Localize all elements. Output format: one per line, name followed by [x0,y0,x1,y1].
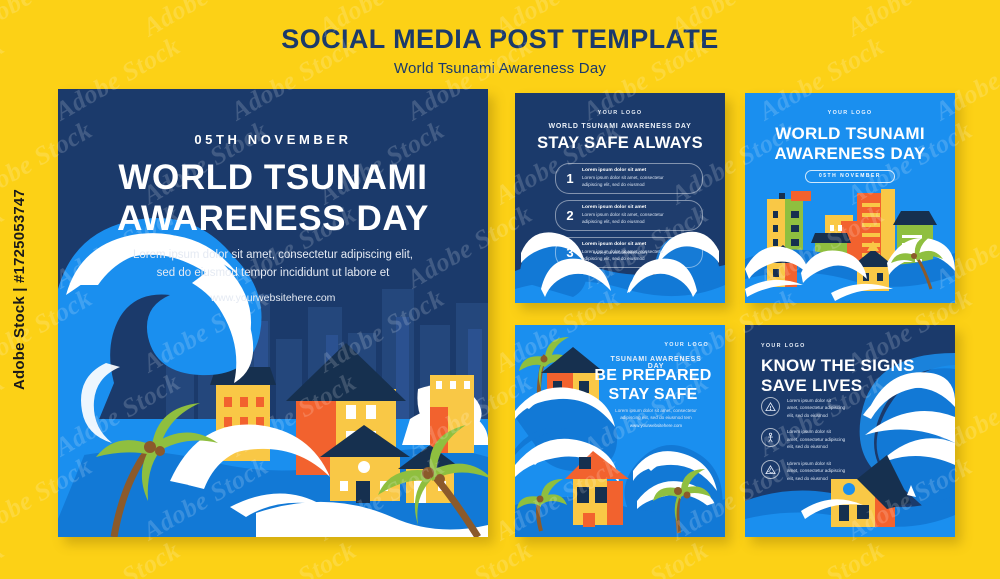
be-prepared-title: BE PREPARED STAY SAFE [593,367,713,404]
awareness-day-date-text: 05TH NOVEMBER [805,170,895,183]
list-item-heading: Lorem ipsum dolor sit amet [582,242,664,247]
post-awareness-day[interactable]: YOUR LOGO WORLD TSUNAMI AWARENESS DAY 05… [745,93,955,303]
wave-hazard-icon [761,460,780,479]
list-item-body-line2: amet, consectetur adipiscing [787,467,845,474]
be-prepared-logo: YOUR LOGO [664,342,709,348]
main-post-title: WORLD TSUNAMI AWARENESS DAY [58,157,488,240]
list-item-body-line2: adipiscing elit, sed do eiusmod [582,255,664,262]
stay-safe-list: 1 Lorem ipsum dolor sit amet Lorem ipsum… [555,163,703,274]
stock-id-label: Adobe Stock | #1725053747 [2,0,36,579]
know-the-signs-title: KNOW THE SIGNS SAVE LIVES [761,356,915,396]
page-subtitle: World Tsunami Awareness Day [0,60,1000,77]
post-stay-safe-always[interactable]: YOUR LOGO WORLD TSUNAMI AWARENESS DAY ST… [515,93,725,303]
main-post-description: Lorem ipsum dolor sit amet, consectetur … [88,247,458,283]
know-the-signs-title-line2: SAVE LIVES [761,376,915,396]
list-item[interactable]: Lorem ipsum dolor sit amet, consectetur … [761,460,881,482]
list-item-body-line2: adipiscing elit, sed do eiusmod [582,181,664,188]
stay-safe-title: STAY SAFE ALWAYS [515,134,725,153]
list-item-body-line1: Lorem ipsum dolor sit [787,460,845,467]
list-item-body-line3: elit, sed do eiusmod [787,412,845,419]
watermark-text: Adobe Stock [930,535,1000,579]
list-item[interactable]: Lorem ipsum dolor sit amet, consectetur … [761,428,881,450]
list-item-body-line3: elit, sed do eiusmod [787,443,845,450]
main-post-title-line1: WORLD TSUNAMI [58,157,488,198]
main-post-date: 05TH NOVEMBER [58,132,488,147]
watermark-text: Adobe Stock [754,535,889,579]
page-header: SOCIAL MEDIA POST TEMPLATE World Tsunami… [0,24,1000,77]
awareness-day-title: WORLD TSUNAMI AWARENESS DAY [745,124,955,164]
list-item-heading: Lorem ipsum dolor sit amet [582,205,664,210]
watermark-text: Adobe Stock [578,535,713,579]
list-item[interactable]: 2 Lorem ipsum dolor sit amet Lorem ipsum… [555,200,703,231]
post-be-prepared[interactable]: YOUR LOGO TSUNAMI AWARENESS DAY BE PREPA… [515,325,725,537]
be-prepared-title-line2: STAY SAFE [593,386,713,405]
watermark-text: Adobe Stock [50,535,185,579]
list-item-heading: Lorem ipsum dolor sit amet [582,168,664,173]
watermark-text: Adobe Stock [226,535,361,579]
stay-safe-logo: YOUR LOGO [515,110,725,116]
list-item-body-line1: Lorem ipsum dolor sit amet, consectetur [582,174,664,181]
main-post-title-line2: AWARENESS DAY [58,198,488,239]
know-the-signs-logo: YOUR LOGO [761,343,806,349]
list-item-body-line1: Lorem ipsum dolor sit [787,428,845,435]
list-item[interactable]: 1 Lorem ipsum dolor sit amet Lorem ipsum… [555,163,703,194]
page-title: SOCIAL MEDIA POST TEMPLATE [0,24,1000,55]
be-prepared-title-line1: BE PREPARED [593,367,713,386]
list-item-body-line1: Lorem ipsum dolor sit amet, consectetur [582,211,664,218]
list-item-body-line3: elit, sed do eiusmod [787,475,845,482]
post-know-the-signs[interactable]: YOUR LOGO KNOW THE SIGNS SAVE LIVES Lore… [745,325,955,537]
awareness-day-date-badge: 05TH NOVEMBER [745,164,955,183]
watermark-text: Adobe Stock [402,535,537,579]
list-item-body-line1: Lorem ipsum dolor sit [787,397,845,404]
list-item[interactable]: Lorem ipsum dolor sit amet, consectetur … [761,397,881,419]
post-main[interactable]: 05TH NOVEMBER WORLD TSUNAMI AWARENESS DA… [58,89,488,537]
person-alert-icon [761,428,780,447]
be-prepared-desc-line1: Lorem ipsum dolor sit amet, consectetur [603,407,709,414]
list-item-body-line2: amet, consectetur adipiscing [787,436,845,443]
main-post-website[interactable]: www.yourwebsitehere.com [58,292,488,304]
list-item-body-line2: amet, consectetur adipiscing [787,404,845,411]
main-post-desc-line2: sed do eiusmod tempor incididunt ut labo… [88,265,458,283]
know-the-signs-title-line1: KNOW THE SIGNS [761,356,915,376]
list-item-number: 2 [565,208,575,223]
main-post-desc-line1: Lorem ipsum dolor sit amet, consectetur … [88,247,458,265]
be-prepared-description: Lorem ipsum dolor sit amet, consectetur … [603,407,709,422]
be-prepared-website[interactable]: www.yourwebsitehere.com [603,423,709,428]
list-item-number: 1 [565,171,575,186]
awareness-day-title-line2: AWARENESS DAY [745,144,955,164]
warning-triangle-icon [761,397,780,416]
be-prepared-desc-line2: adipiscing elit, sed do eiusmod tem [603,414,709,421]
know-the-signs-list: Lorem ipsum dolor sit amet, consectetur … [761,397,881,491]
stay-safe-website[interactable]: www.yourwebsitehere.com [515,250,725,255]
awareness-day-title-line1: WORLD TSUNAMI [745,124,955,144]
stay-safe-subtitle: WORLD TSUNAMI AWARENESS DAY [515,123,725,130]
list-item-body-line2: adipiscing elit, sed do eiusmod [582,218,664,225]
awareness-day-logo: YOUR LOGO [745,110,955,116]
